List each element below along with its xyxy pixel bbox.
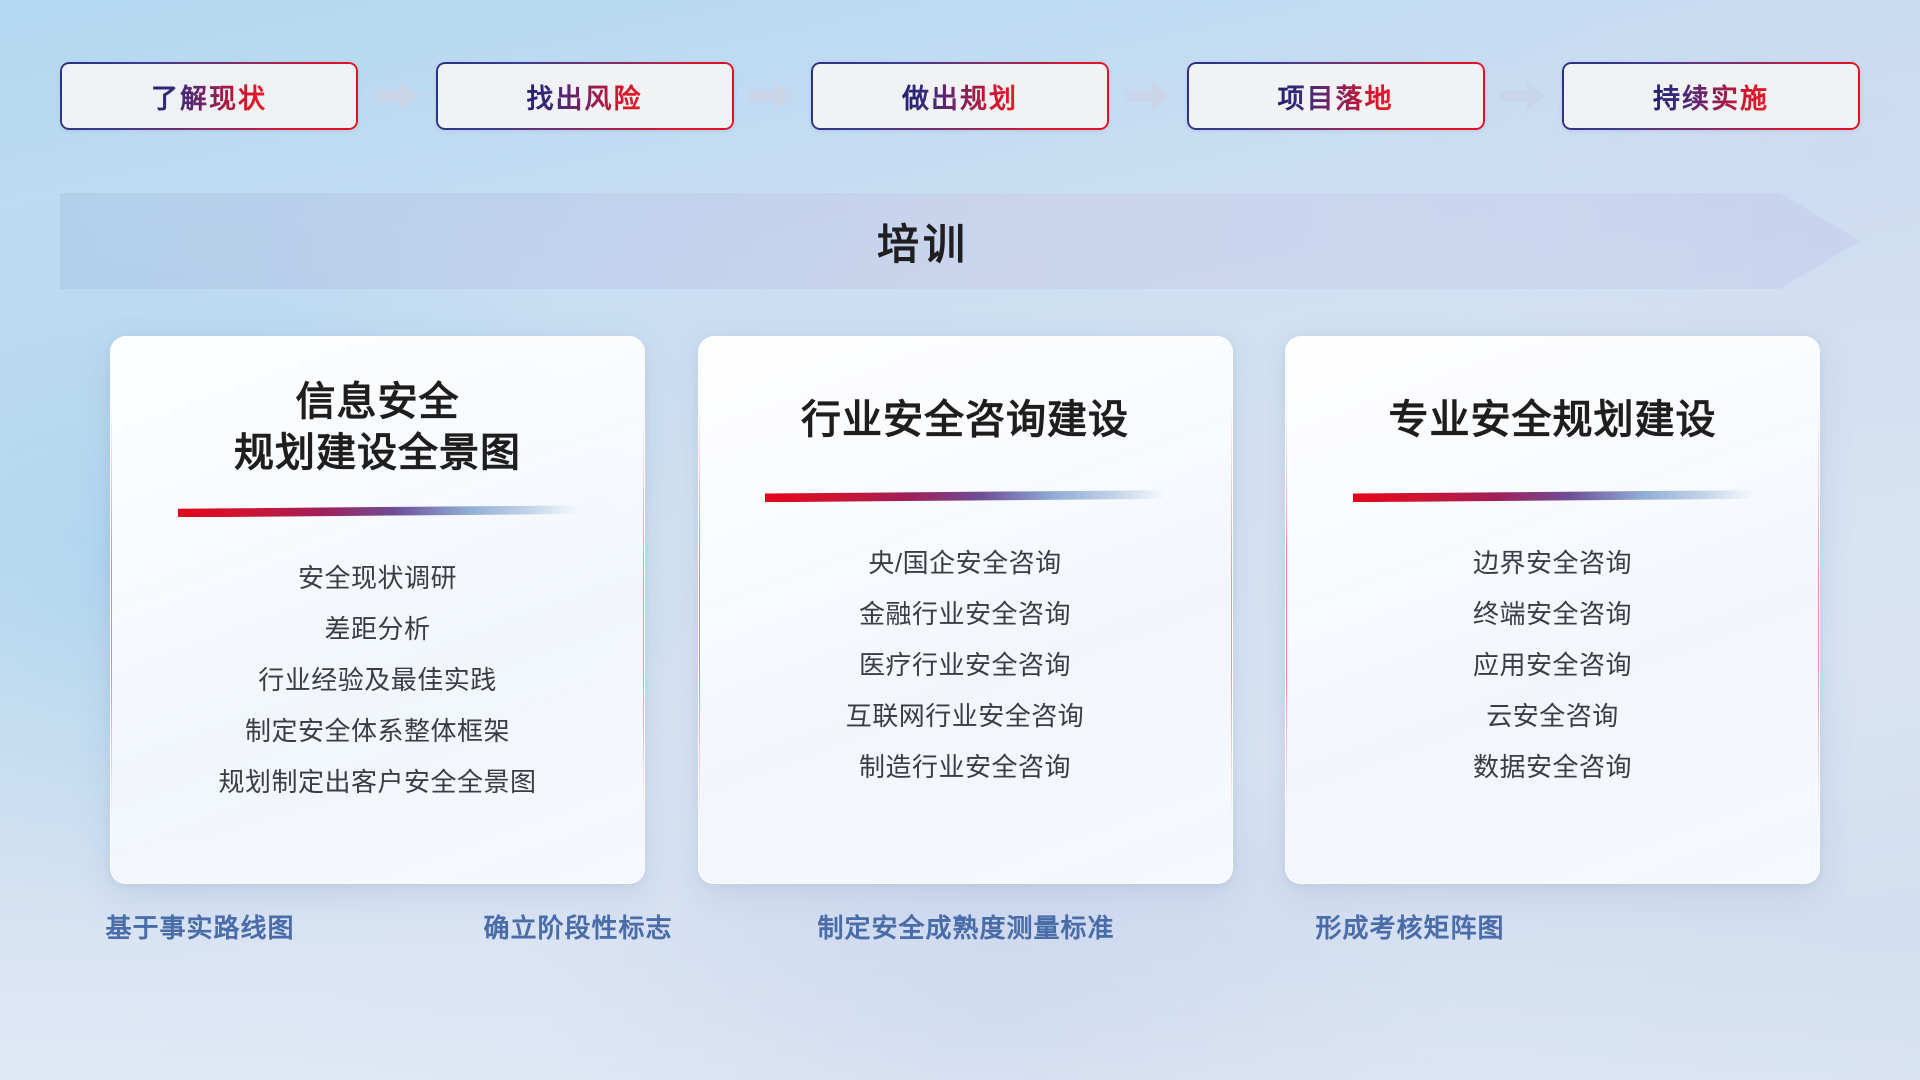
list-item: 制造行业安全咨询	[859, 742, 1071, 793]
footer-label-roadmap: 基于事实路线图	[105, 908, 294, 945]
footer-label-milestone: 确立阶段性标志	[483, 908, 672, 945]
list-item: 金融行业安全咨询	[859, 589, 1071, 640]
card-item-list: 边界安全咨询 终端安全咨询 应用安全咨询 云安全咨询 数据安全咨询	[1286, 538, 1819, 793]
step-label-5: 持续实施	[1653, 77, 1769, 116]
arrow-right-icon	[1500, 79, 1546, 113]
footer-label-maturity: 制定安全成熟度测量标准	[817, 908, 1114, 945]
list-item: 规划制定出客户安全全景图	[218, 757, 536, 808]
step-box-3[interactable]: 做出规划	[811, 62, 1109, 130]
step-box-1[interactable]: 了解现状	[60, 62, 358, 130]
arrow-right-icon	[374, 79, 420, 113]
arrow-right-icon	[749, 79, 795, 113]
list-item: 应用安全咨询	[1473, 640, 1632, 691]
card-item-list: 央/国企安全咨询 金融行业安全咨询 医疗行业安全咨询 互联网行业安全咨询 制造行…	[699, 538, 1232, 793]
card-row: 信息安全 规划建设全景图 安全现状调研 差距分析 行业经验及最佳实践 制定安全体…	[110, 336, 1820, 884]
training-banner: 培训	[60, 193, 1860, 289]
slide-canvas: 了解现状 找出风险 做出规划 项目落地	[0, 0, 1920, 1080]
list-item: 行业经验及最佳实践	[258, 655, 497, 706]
card-industry-security-consulting[interactable]: 行业安全咨询建设 央/国企安全咨询 金融行业安全咨询 医疗行业安全咨询 互联网行…	[698, 336, 1233, 884]
banner-title: 培训	[60, 193, 1860, 289]
card-divider	[765, 490, 1165, 502]
list-item: 云安全咨询	[1486, 691, 1619, 742]
list-item: 制定安全体系整体框架	[245, 706, 510, 757]
card-title: 行业安全咨询建设	[775, 395, 1155, 446]
step-box-2[interactable]: 找出风险	[436, 62, 734, 130]
card-title: 专业安全规划建设	[1363, 395, 1743, 446]
card-divider	[1353, 490, 1753, 502]
list-item: 安全现状调研	[298, 553, 457, 604]
step-box-5[interactable]: 持续实施	[1562, 62, 1860, 130]
list-item: 终端安全咨询	[1473, 589, 1632, 640]
process-step-row: 了解现状 找出风险 做出规划 项目落地	[60, 62, 1860, 130]
step-label-1: 了解现状	[151, 77, 267, 116]
card-item-list: 安全现状调研 差距分析 行业经验及最佳实践 制定安全体系整体框架 规划制定出客户…	[111, 553, 644, 808]
list-item: 央/国企安全咨询	[868, 538, 1061, 589]
card-title-line-1: 行业安全咨询建设	[801, 395, 1129, 446]
step-box-4[interactable]: 项目落地	[1187, 62, 1485, 130]
list-item: 数据安全咨询	[1473, 742, 1632, 793]
step-label-3: 做出规划	[902, 77, 1018, 116]
list-item: 差距分析	[324, 604, 430, 655]
card-title-line-1: 信息安全	[234, 377, 521, 428]
list-item: 互联网行业安全咨询	[846, 691, 1085, 742]
card-title-line-1: 专业安全规划建设	[1389, 395, 1717, 446]
step-label-2: 找出风险	[527, 77, 643, 116]
card-divider	[178, 505, 578, 517]
arrow-right-icon	[1125, 79, 1171, 113]
footer-label-row: 基于事实路线图 确立阶段性标志 制定安全成熟度测量标准 形成考核矩阵图	[0, 908, 1920, 954]
step-label-4: 项目落地	[1278, 77, 1394, 116]
card-title-line-2: 规划建设全景图	[234, 428, 521, 479]
footer-label-matrix: 形成考核矩阵图	[1315, 908, 1504, 945]
card-professional-security-planning[interactable]: 专业安全规划建设 边界安全咨询 终端安全咨询 应用安全咨询 云安全咨询 数据安全…	[1285, 336, 1820, 884]
card-information-security-blueprint[interactable]: 信息安全 规划建设全景图 安全现状调研 差距分析 行业经验及最佳实践 制定安全体…	[110, 336, 645, 884]
list-item: 边界安全咨询	[1473, 538, 1632, 589]
list-item: 医疗行业安全咨询	[859, 640, 1071, 691]
card-title: 信息安全 规划建设全景图	[208, 377, 547, 479]
